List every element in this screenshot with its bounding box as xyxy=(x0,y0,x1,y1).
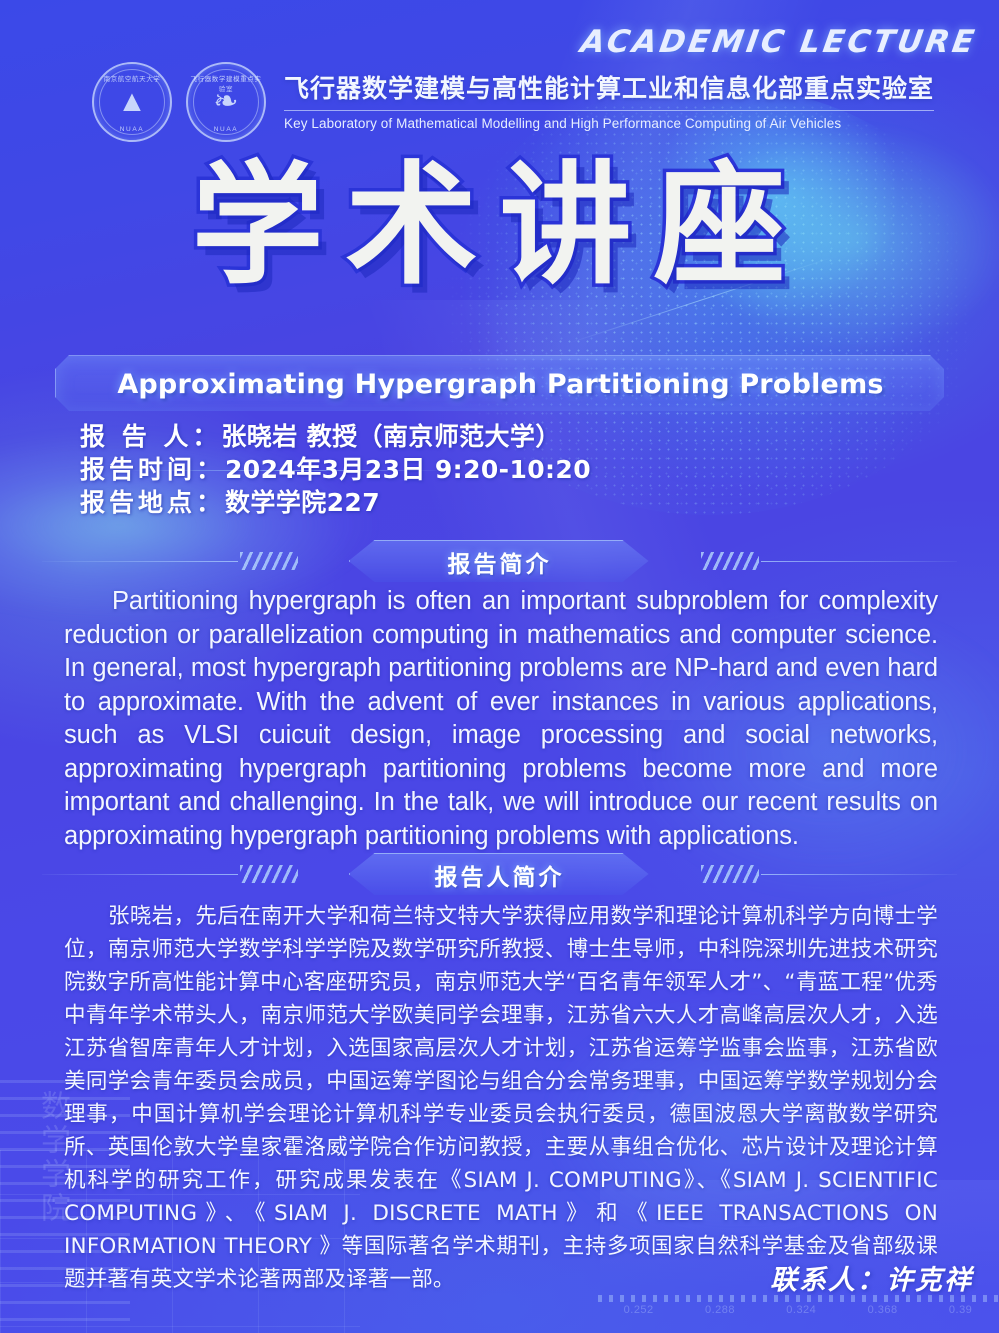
nuaa-university-seal-icon: 南京航空航天大学 ▲ NUAA xyxy=(92,62,172,142)
meta-value-venue: 数学学院227 xyxy=(225,488,380,517)
meta-value-time: 2024年3月23日 9:20-10:20 xyxy=(225,455,591,484)
section-rail-left xyxy=(42,874,238,875)
section-tick-left-icon xyxy=(240,552,298,570)
meta-label-venue: 报告地点： xyxy=(80,488,225,517)
abstract-body: Partitioning hypergraph is often an impo… xyxy=(64,585,938,853)
eyebrow-academic-lecture: ACADEMIC LECTURE xyxy=(578,24,979,60)
decor-number: 0.324 xyxy=(786,1304,816,1316)
section-plate: 报告简介 xyxy=(349,540,651,584)
meta-value-speaker: 张晓岩 教授（南京师范大学） xyxy=(221,422,560,451)
lab-name-cn: 飞行器数学建模与高性能计算工业和信息化部重点实验室 xyxy=(284,74,934,104)
section-plate: 报告人简介 xyxy=(349,853,651,897)
lecture-poster: 0.252 0.288 0.324 0.368 0.39 数学学院 ACADEM… xyxy=(0,0,999,1333)
seal-bottom-text: NUAA xyxy=(188,126,264,133)
section-tick-left-icon xyxy=(240,865,298,883)
decor-number: 0.368 xyxy=(868,1304,898,1316)
decor-number: 0.288 xyxy=(705,1304,735,1316)
lab-divider xyxy=(284,110,934,111)
section-title-bio: 报告人简介 xyxy=(435,858,565,892)
section-tick-right-icon xyxy=(701,552,759,570)
lab-name-block: 飞行器数学建模与高性能计算工业和信息化部重点实验室 Key Laboratory… xyxy=(280,74,934,131)
contact-person: 联系人：许克祥 xyxy=(770,1258,973,1297)
meta-row-venue: 报告地点：数学学院227 xyxy=(80,486,591,519)
lecture-title: Approximating Hypergraph Partitioning Pr… xyxy=(117,369,883,400)
lecture-meta: 报 告 人：张晓岩 教授（南京师范大学） 报告时间：2024年3月23日 9:2… xyxy=(80,420,591,519)
decor-number: 0.39 xyxy=(949,1304,972,1316)
section-header-bio: 报告人简介 xyxy=(0,853,999,897)
decor-number-row: 0.252 0.288 0.324 0.368 0.39 xyxy=(598,1304,998,1316)
meta-row-time: 报告时间：2024年3月23日 9:20-10:20 xyxy=(80,453,591,486)
meta-row-speaker: 报 告 人：张晓岩 教授（南京师范大学） xyxy=(80,420,591,453)
lecture-title-banner: Approximating Hypergraph Partitioning Pr… xyxy=(55,355,946,413)
section-rail-right xyxy=(761,874,957,875)
lab-header: 南京航空航天大学 ▲ NUAA 飞行器数学建模重点实验室 ❧ NUAA 飞行器数… xyxy=(92,62,934,142)
speaker-bio-body: 张晓岩，先后在南开大学和荷兰特文特大学获得应用数学和理论计算机科学方向博士学位，… xyxy=(64,900,938,1296)
section-rail-right xyxy=(761,561,957,562)
meta-label-speaker: 报 告 人： xyxy=(80,422,221,451)
seal-bottom-text: NUAA xyxy=(94,126,170,133)
nuaa-lab-seal-icon: 飞行器数学建模重点实验室 ❧ NUAA xyxy=(186,62,266,142)
section-rail-left xyxy=(42,561,238,562)
meta-label-time: 报告时间： xyxy=(80,455,225,484)
section-header-abstract: 报告简介 xyxy=(0,540,999,584)
poster-big-title: 学术讲座 xyxy=(0,160,999,292)
lab-name-en: Key Laboratory of Mathematical Modelling… xyxy=(284,116,934,131)
decor-number: 0.252 xyxy=(624,1304,654,1316)
section-tick-right-icon xyxy=(701,865,759,883)
section-title-abstract: 报告简介 xyxy=(448,545,552,579)
